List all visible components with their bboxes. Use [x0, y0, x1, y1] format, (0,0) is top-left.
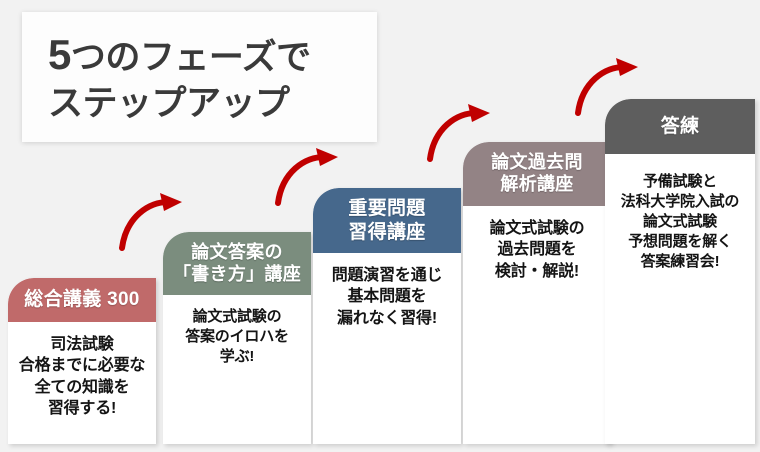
phase-card-4-body: 論文式試験の 過去問題を 検討・解説! — [463, 206, 611, 282]
phase-card-5-body: 予備試験と 法科大学院入試の 論文式試験 予想問題を解く 答案練習会! — [605, 154, 755, 272]
phase-card-4-header-line-1: 論文過去問 — [491, 152, 583, 174]
phase-card-3-body: 問題演習を通じ 基本問題を 漏れなく習得! — [313, 253, 461, 329]
phase-card-2-header-line-2: 「書き方」講座 — [173, 264, 301, 286]
phase-card-1-header: 総合講義 300 — [8, 278, 156, 322]
phase-card-1[interactable]: 総合講義 300 司法試験 合格までに必要な 全ての知識を 習得する! — [8, 278, 156, 444]
phase-card-2-body: 論文式試験の 答案のイロハを 学ぶ! — [163, 295, 311, 367]
infographic-stage: 5つのフェーズで ステップアップ 総合講義 300 司法試験 合格までに必要な … — [0, 0, 760, 452]
phase-card-1-body-line-2: 合格までに必要な — [12, 355, 152, 376]
phase-card-5-header-line-1: 答練 — [661, 115, 700, 138]
progress-arrow-icon-4 — [568, 57, 642, 119]
phase-card-3-body-line-3: 漏れなく習得! — [317, 308, 457, 329]
phase-card-2[interactable]: 論文答案の 「書き方」講座 論文式試験の 答案のイロハを 学ぶ! — [163, 232, 311, 444]
phase-card-5-body-line-1: 予備試験と — [609, 172, 751, 192]
title-line-1-text: つのフェーズで — [71, 38, 311, 77]
title-number: 5 — [48, 31, 71, 78]
phase-card-3[interactable]: 重要問題 習得講座 問題演習を通じ 基本問題を 漏れなく習得! — [313, 188, 461, 444]
progress-arrow-icon-2 — [268, 147, 342, 209]
phase-card-5-body-line-3: 論文式試験 — [609, 212, 751, 232]
phase-card-2-body-line-1: 論文式試験の — [167, 307, 307, 327]
progress-arrow-icon-3 — [420, 103, 494, 165]
phase-card-1-body-line-4: 習得する! — [12, 398, 152, 419]
phase-card-2-header-line-1: 論文答案の — [191, 242, 283, 264]
phase-card-1-header-line-1: 総合講義 300 — [24, 288, 139, 311]
phase-card-3-body-line-2: 基本問題を — [317, 286, 457, 307]
phase-card-2-body-line-2: 答案のイロハを — [167, 327, 307, 347]
phase-card-5-body-line-2: 法科大学院入試の — [609, 192, 751, 212]
phase-card-1-body: 司法試験 合格までに必要な 全ての知識を 習得する! — [8, 322, 156, 419]
title-line-2: ステップアップ — [48, 82, 311, 126]
phase-card-3-header-line-2: 習得講座 — [348, 221, 425, 244]
phase-card-4-body-line-3: 検討・解説! — [467, 261, 607, 282]
progress-arrow-icon-1 — [112, 192, 186, 254]
title-banner: 5つのフェーズで ステップアップ — [22, 12, 377, 142]
phase-card-2-body-line-3: 学ぶ! — [167, 347, 307, 367]
phase-card-3-body-line-1: 問題演習を通じ — [317, 265, 457, 286]
phase-card-5[interactable]: 答練 予備試験と 法科大学院入試の 論文式試験 予想問題を解く 答案練習会! — [605, 99, 755, 444]
phase-card-4[interactable]: 論文過去問 解析講座 論文式試験の 過去問題を 検討・解説! — [463, 142, 611, 444]
phase-card-4-body-line-1: 論文式試験の — [467, 218, 607, 239]
phase-card-5-body-line-4: 予想問題を解く — [609, 232, 751, 252]
phase-card-4-body-line-2: 過去問題を — [467, 239, 607, 260]
title-line-1: 5つのフェーズで — [48, 29, 311, 82]
phase-card-4-header-line-2: 解析講座 — [500, 174, 573, 196]
title-text-block: 5つのフェーズで ステップアップ — [48, 29, 311, 126]
phase-card-3-header-line-1: 重要問題 — [348, 197, 425, 220]
phase-card-1-body-line-3: 全ての知識を — [12, 377, 152, 398]
phase-card-1-body-line-1: 司法試験 — [12, 334, 152, 355]
phase-card-5-body-line-5: 答案練習会! — [609, 252, 751, 272]
